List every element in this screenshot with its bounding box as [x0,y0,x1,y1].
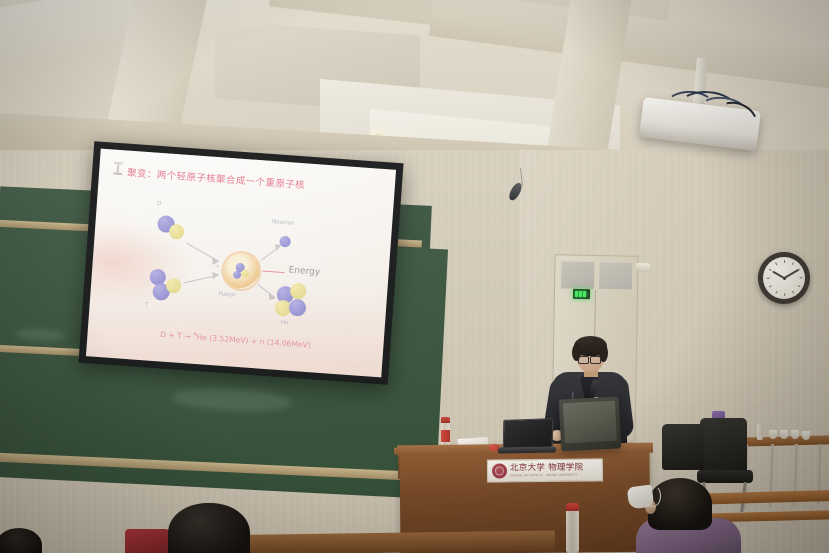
podium-banner: 北京大学 物理学院 SCHOOL OF PHYSICS · PEKING UNI… [487,458,603,482]
mouse-icon[interactable] [489,444,499,451]
cup [769,430,777,439]
glasses-icon [590,356,601,364]
office-chair[interactable] [662,424,704,470]
face-mask-strap [645,485,661,507]
cup [791,430,799,439]
audience-member-head [168,503,250,553]
led-display [573,289,590,299]
cabinet-glass-panel [560,260,596,290]
banner-title-en: SCHOOL OF PHYSICS · PEKING UNIVERSITY [510,472,583,477]
podium-monitor [559,396,622,451]
office-chair[interactable] [700,418,747,476]
bottle [757,424,763,440]
wall-clock [758,252,810,304]
monitor-screen [563,401,617,444]
clock-minute-hand [784,269,800,279]
bottle-label [441,430,450,442]
laptop-base[interactable] [498,446,556,453]
red-book [125,529,171,553]
clock-face [763,257,805,299]
water-bottle [566,508,579,553]
cup [802,431,810,440]
bottle-cap [566,503,579,511]
lecture-hall-photo: 聚变：两个轻原子核聚合成一个重原子核 D T Fusion [0,0,829,553]
bottle-cap [441,417,450,423]
chair-seat[interactable] [697,470,753,483]
pku-seal-icon [492,463,507,478]
slide-content: 聚变：两个轻原子核聚合成一个重原子核 D T Fusion [86,149,396,378]
cabinet-glass-panel [598,261,634,291]
cup [780,430,788,439]
projection-screen: 聚变：两个轻原子核聚合成一个重原子核 D T Fusion [78,141,403,385]
glasses-icon [578,356,589,364]
wall-speaker [636,263,651,273]
